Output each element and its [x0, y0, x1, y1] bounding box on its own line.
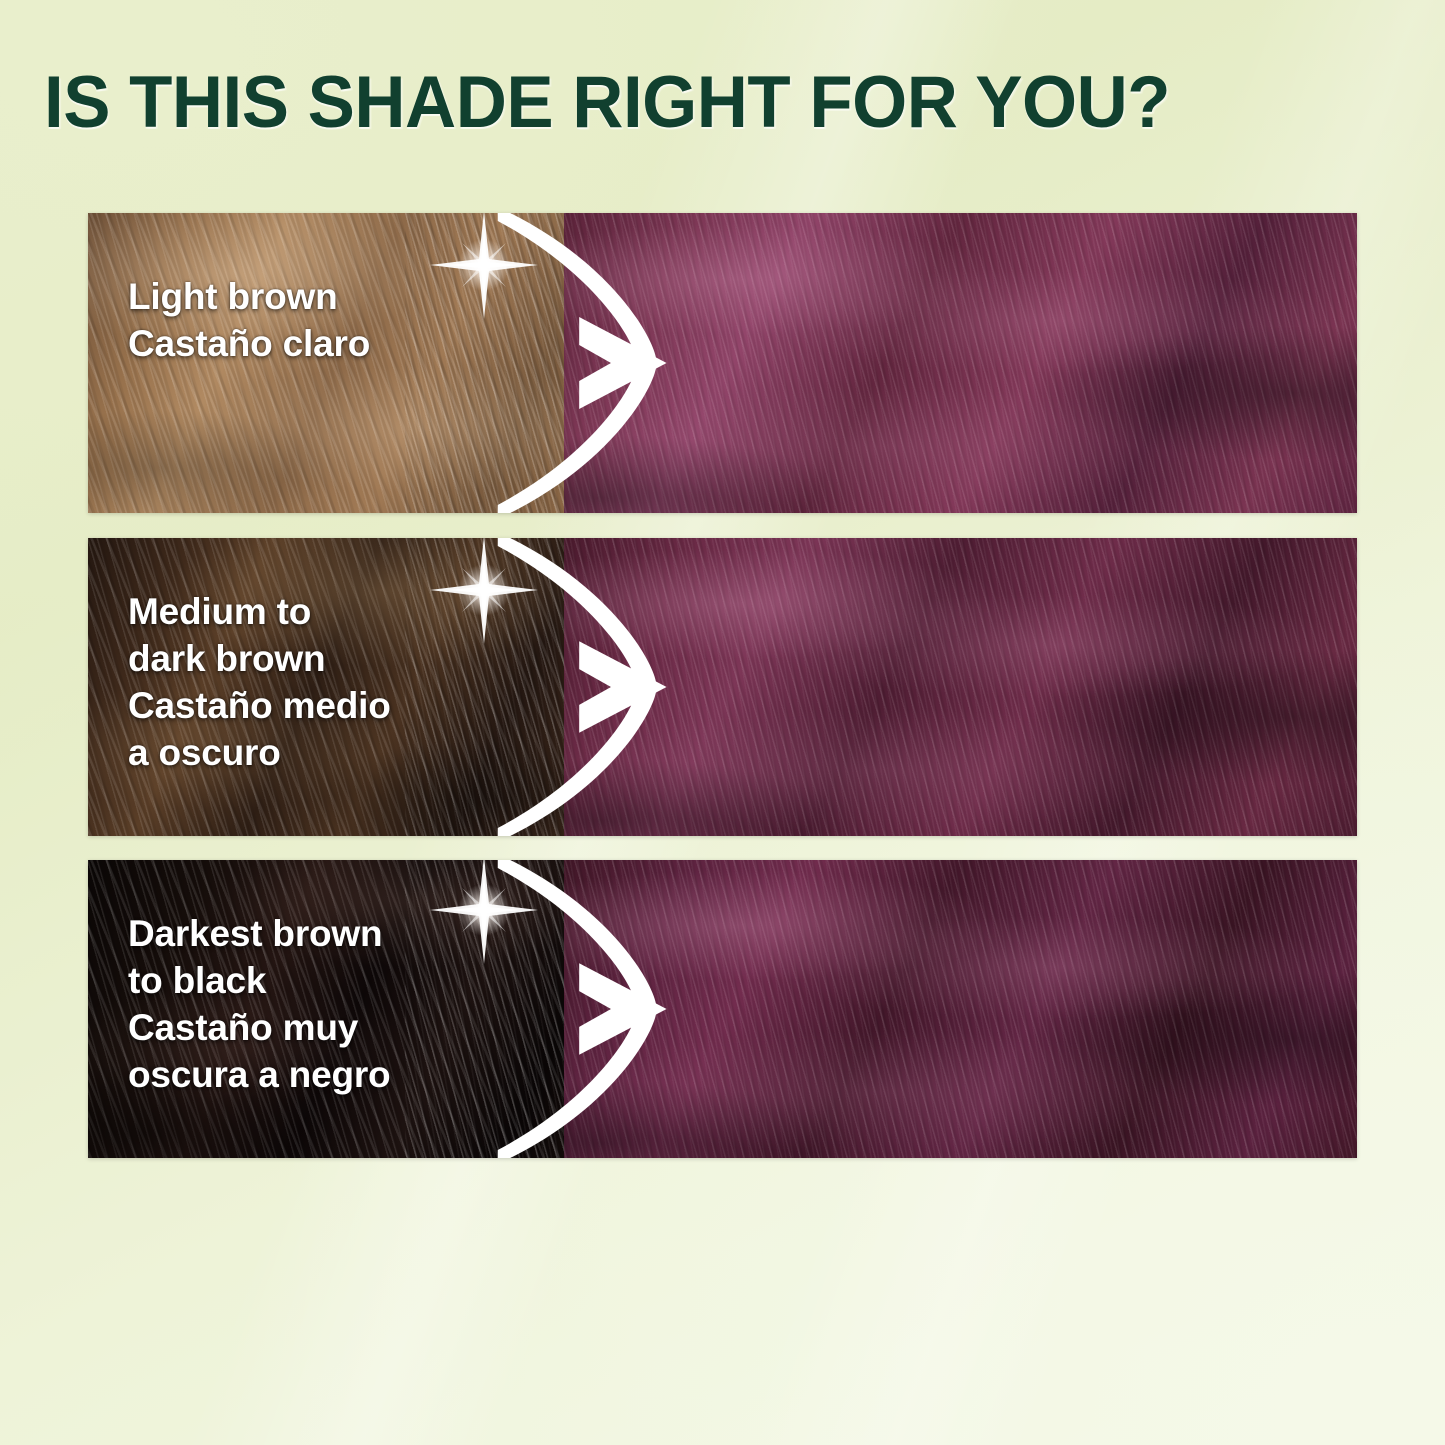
hair-sheen: [564, 213, 1357, 513]
shade-row-medium-dark-brown: Medium to dark brown Castaño medio a osc…: [88, 538, 1357, 836]
result-shade-swatch: [564, 860, 1357, 1158]
footer: VIRTUAL TRYON TRY ON YOUR SHADE AT GARNI…: [0, 1190, 1445, 1420]
shade-label: Darkest brown to black Castaño muy oscur…: [128, 910, 390, 1098]
shade-label: Medium to dark brown Castaño medio a osc…: [128, 588, 391, 776]
hair-sheen: [564, 860, 1357, 1158]
hair-sheen: [564, 538, 1357, 836]
shade-chart-graphic: IS THIS SHADE RIGHT FOR YOU?: [0, 0, 1445, 1445]
shade-label: Light brown Castaño claro: [128, 273, 370, 367]
result-shade-swatch: [564, 538, 1357, 836]
shade-row-darkest-brown-black: Darkest brown to black Castaño muy oscur…: [88, 860, 1357, 1158]
result-shade-swatch: [564, 213, 1357, 513]
shade-row-light-brown: Light brown Castaño claro: [88, 213, 1357, 513]
page-title: IS THIS SHADE RIGHT FOR YOU?: [44, 66, 1383, 140]
